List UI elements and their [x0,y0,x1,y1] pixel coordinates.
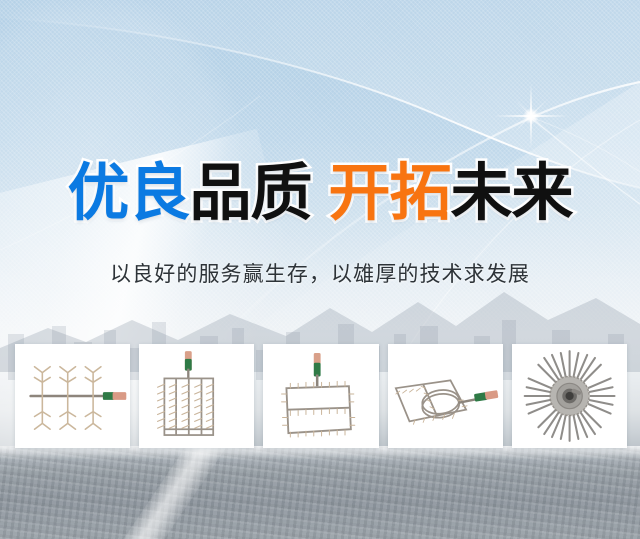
ground-highlight [0,446,640,460]
headline-segment-black-2: 未来 [451,162,573,224]
page-title: 优良品质 开拓未来 [0,162,640,224]
flat-frame-ring-handle-icon [388,344,503,448]
branched-wire-brush-icon [15,344,130,448]
rectangular-spike-frame-icon [139,344,254,448]
headline-segment-blue: 优良 [67,162,189,224]
page-subtitle: 以良好的服务赢生存，以雄厚的技术求发展 [0,258,640,288]
product-card-3[interactable] [263,344,378,448]
radial-sunburst-disc-icon [512,344,627,448]
product-card-4[interactable] [388,344,503,448]
product-card-5[interactable] [512,344,627,448]
pavement-ground [0,446,640,539]
star-flare-icon [494,79,568,153]
headline-spacer [312,162,329,224]
product-thumbnail-strip [15,344,627,448]
soft-glow-circle [0,0,240,290]
product-card-2[interactable] [139,344,254,448]
headline-segment-orange: 开拓 [329,162,451,224]
square-toothed-frame-icon [263,344,378,448]
headline-segment-black-1: 品质 [189,162,311,224]
promo-banner: 优良品质 开拓未来 以良好的服务赢生存，以雄厚的技术求发展 [0,0,640,539]
product-card-1[interactable] [15,344,130,448]
